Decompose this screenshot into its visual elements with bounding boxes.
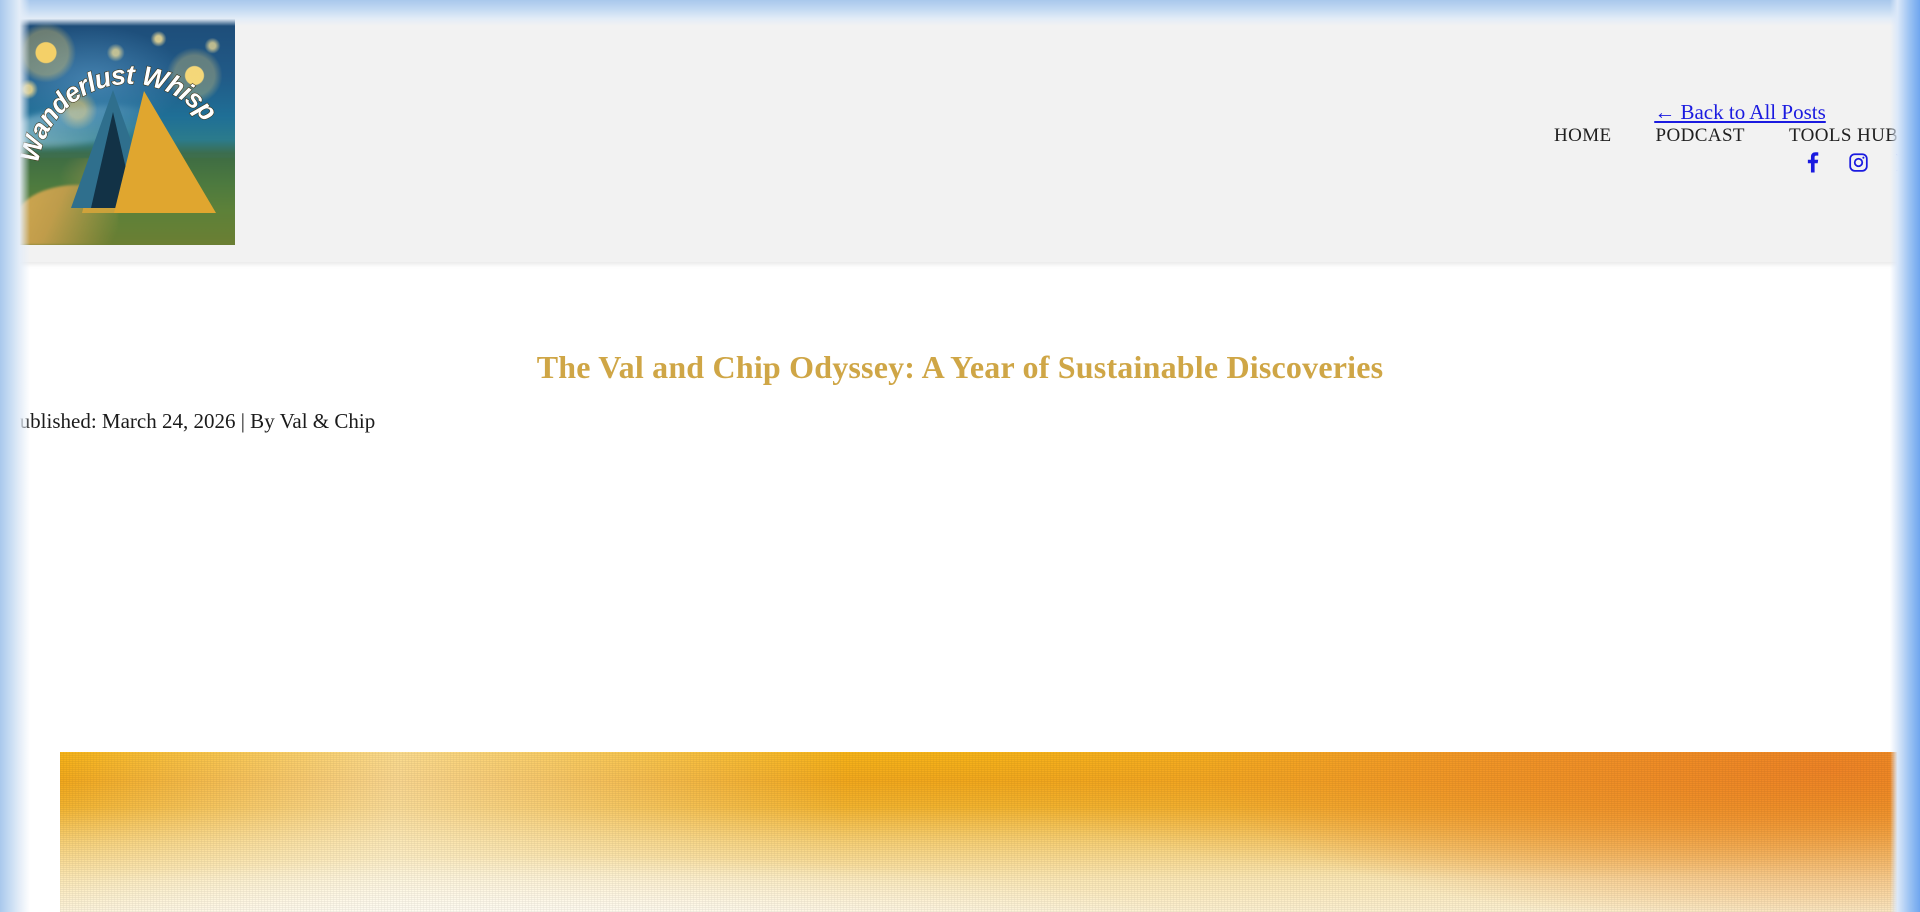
social-links <box>1540 151 1920 173</box>
logo-wordmark: Wanderlust Whispers <box>10 16 235 245</box>
site-logo-artwork: Wanderlust Whispers <box>10 16 235 245</box>
nav-item-podcast[interactable]: PODCAST <box>1656 125 1745 147</box>
article: The Val and Chip Odyssey: A Year of Sust… <box>0 262 1920 434</box>
header-navigation: ← Back to All Posts HOME PODCAST TOOLS H… <box>1540 100 1920 173</box>
x-twitter-icon[interactable] <box>1895 152 1916 173</box>
primary-nav: HOME PODCAST TOOLS HUB <box>1540 125 1920 147</box>
facebook-icon[interactable] <box>1802 151 1822 173</box>
viewport-frame: Wanderlust Whispers ← Back to All Posts … <box>0 0 1920 912</box>
hero-grain-overlay <box>60 752 1920 912</box>
hero-image <box>60 752 1920 912</box>
nav-item-tools-hub[interactable]: TOOLS HUB <box>1789 125 1898 147</box>
page-root: Wanderlust Whispers ← Back to All Posts … <box>0 0 1920 912</box>
back-to-all-posts-link[interactable]: ← Back to All Posts <box>1560 100 1920 124</box>
svg-text:Wanderlust Whispers: Wanderlust Whispers <box>10 16 223 165</box>
post-meta: Published: March 24, 2026 | By Val & Chi… <box>0 409 1920 434</box>
nav-item-home[interactable]: HOME <box>1554 125 1612 147</box>
site-logo-link[interactable]: Wanderlust Whispers <box>10 16 235 245</box>
site-header: Wanderlust Whispers ← Back to All Posts … <box>0 0 1920 262</box>
hero-figure <box>60 752 1920 912</box>
instagram-icon[interactable] <box>1848 152 1869 173</box>
page-title: The Val and Chip Odyssey: A Year of Sust… <box>0 262 1920 387</box>
logo-wordmark-text: Wanderlust Whispers <box>10 16 223 165</box>
